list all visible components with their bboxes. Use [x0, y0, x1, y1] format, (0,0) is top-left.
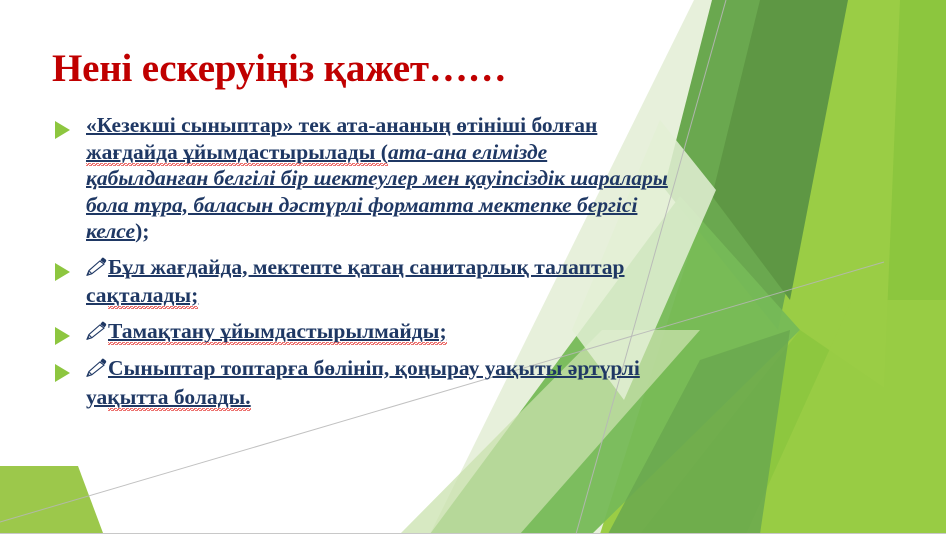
list-item-text: «Кезекші сыныптар» тек ата-ананың өтініш… [86, 113, 668, 243]
list-item: «Кезекші сыныптар» тек ата-ананың өтініш… [52, 112, 672, 245]
facet-shape-dark-upper-inner [712, 0, 848, 300]
bullet-list: «Кезекші сыныптар» тек ата-ананың өтініш… [52, 112, 672, 419]
list-item: Бұл жағдайда, мектепте қатаң санитарлық … [52, 254, 672, 309]
green-triangle-bullet-icon [55, 364, 70, 382]
pen-icon [86, 256, 107, 283]
slide-title: Нені ескеруіңіз қажет…… [52, 47, 672, 91]
pen-icon [86, 357, 107, 384]
green-triangle-bullet-icon [55, 327, 70, 345]
bullet-4-text: Сыныптар топтарға бөлініп, қоңырау уақыт… [86, 356, 640, 409]
bullet-2-text: Бұл жағдайда, мектепте қатаң санитарлық … [86, 255, 625, 308]
facet-shape-right-edge [878, 0, 946, 534]
slide-canvas: Нені ескеруіңіз қажет…… «Кезекші сыныпта… [0, 0, 946, 534]
facet-shape-lower-bright-2 [746, 300, 946, 534]
list-item: Сыныптар топтарға бөлініп, қоңырау уақыт… [52, 355, 672, 410]
facet-shape-bottom-left [0, 466, 103, 533]
list-item-text: Сыныптар топтарға бөлініп, қоңырау уақыт… [86, 356, 640, 409]
list-item-text: Тамақтану ұйымдастырылмайды; [86, 319, 447, 343]
list-item: Тамақтану ұйымдастырылмайды; [52, 318, 672, 347]
green-triangle-bullet-icon [55, 121, 70, 139]
list-item-text: Бұл жағдайда, мектепте қатаң санитарлық … [86, 255, 625, 308]
bullet-3-text: Тамақтану ұйымдастырылмайды; [108, 319, 447, 343]
pen-icon [86, 320, 107, 347]
facet-shape-dark-upper [664, 0, 846, 330]
bullet-1-segment-tail: ); [135, 219, 149, 243]
green-triangle-bullet-icon [55, 263, 70, 281]
facet-shape-lower-bright [640, 330, 946, 534]
